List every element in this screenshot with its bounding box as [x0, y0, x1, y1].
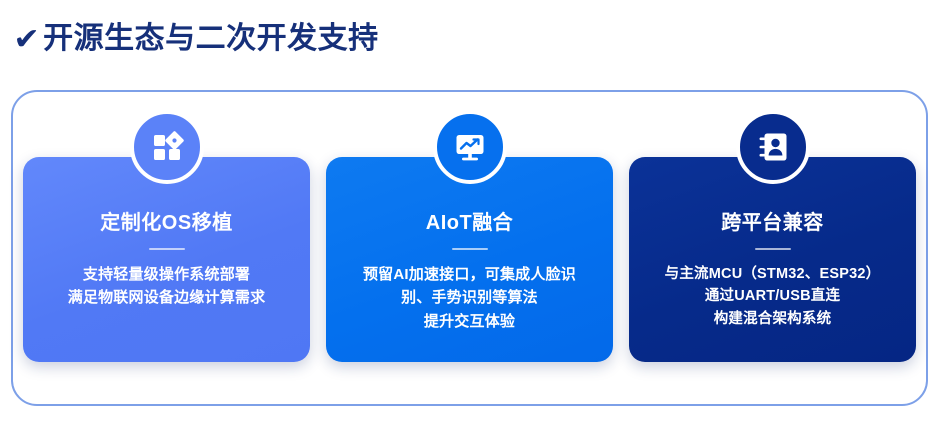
- card-body: 支持轻量级操作系统部署 满足物联网设备边缘计算需求: [54, 263, 280, 310]
- card-title: 跨平台兼容: [721, 211, 824, 235]
- card-divider: [149, 248, 185, 250]
- card-body-line: 支持轻量级操作系统部署: [68, 263, 266, 286]
- card-body-line: 满足物联网设备边缘计算需求: [68, 286, 266, 309]
- card-body-line: 与主流MCU（STM32、ESP32）: [665, 263, 881, 285]
- contact-book-icon: [736, 110, 810, 184]
- feature-card-aiot-fusion[interactable]: AIoT融合 预留AI加速接口，可集成人脸识 别、手势识别等算法 提升交互体验: [326, 157, 613, 362]
- card-body: 预留AI加速接口，可集成人脸识 别、手势识别等算法 提升交互体验: [349, 263, 590, 333]
- card-body-line: 别、手势识别等算法: [363, 286, 576, 309]
- feature-card-os-porting[interactable]: 定制化OS移植 支持轻量级操作系统部署 满足物联网设备边缘计算需求: [23, 157, 310, 362]
- monitor-chart-icon: [433, 110, 507, 184]
- checkmark-icon: ✔: [13, 25, 39, 55]
- feature-card-row: 定制化OS移植 支持轻量级操作系统部署 满足物联网设备边缘计算需求 AIoT融合…: [23, 157, 916, 362]
- modules-grid-icon: [130, 110, 204, 184]
- card-body-line: 构建混合架构系统: [665, 308, 881, 330]
- card-body-line: 通过UART/USB直连: [665, 285, 881, 307]
- feature-card-cross-platform[interactable]: 跨平台兼容 与主流MCU（STM32、ESP32） 通过UART/USB直连 构…: [629, 157, 916, 362]
- page-heading: ✔ 开源生态与二次开发支持: [14, 24, 379, 54]
- card-divider: [452, 248, 488, 250]
- card-body: 与主流MCU（STM32、ESP32） 通过UART/USB直连 构建混合架构系…: [651, 263, 895, 330]
- card-title: 定制化OS移植: [100, 211, 232, 235]
- page-title: 开源生态与二次开发支持: [43, 24, 379, 54]
- card-body-line: 提升交互体验: [363, 310, 576, 333]
- card-body-line: 预留AI加速接口，可集成人脸识: [363, 263, 576, 286]
- card-divider: [755, 248, 791, 250]
- card-title: AIoT融合: [426, 211, 513, 235]
